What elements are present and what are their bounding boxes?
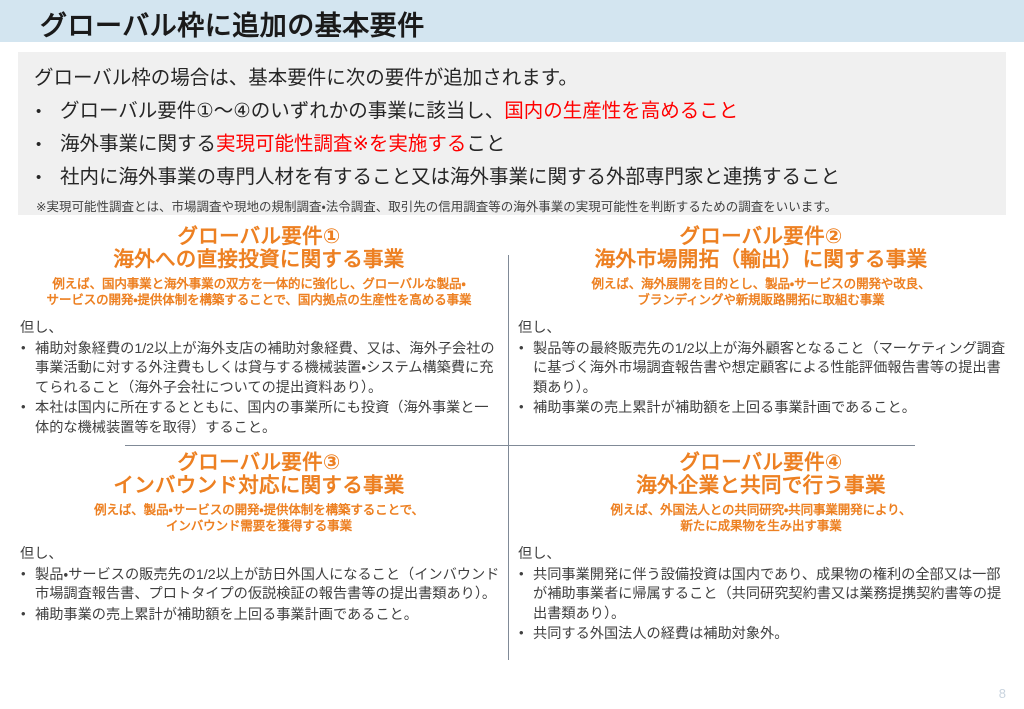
quadrant-2-condition-2: 補助事業の売上累計が補助額を上回る事業計画であること。: [516, 399, 1006, 419]
quadrant-global-requirement-1: グローバル要件① 海外への直接投資に関する事業 例えば、国内事業と海外事業の双方…: [18, 226, 500, 444]
quadrant-3-title-line2: インバウンド対応に関する事業: [18, 475, 500, 498]
quadrant-3-example-line1: 例えば、製品・サービスの開発・提供体制を構築することで、: [18, 502, 500, 519]
quadrant-4-title: グローバル要件④ 海外企業と共同で行う事業: [516, 452, 1006, 498]
quadrant-global-requirement-2: グローバル要件② 海外市場開拓（輸出）に関する事業 例えば、海外展開を目的とし、…: [516, 226, 1006, 444]
intro-footnote: ※実現可能性調査とは、市場調査や現地の規制調査・法令調査、取引先の信用調査等の海…: [36, 196, 837, 215]
quadrant-1-title: グローバル要件① 海外への直接投資に関する事業: [18, 226, 500, 272]
intro-bullet-2-black-before: 海外事業に関する: [60, 133, 216, 155]
quadrant-2-example-line1: 例えば、海外展開を目的とし、製品・サービスの開発や改良、: [516, 276, 1006, 293]
quadrant-3-condition-2: 補助事業の売上累計が補助額を上回る事業計画であること。: [18, 606, 500, 626]
quadrant-3-title: グローバル要件③ インバウンド対応に関する事業: [18, 452, 500, 498]
quadrant-4-condition-2: 共同する外国法人の経費は補助対象外。: [516, 625, 1006, 645]
intro-bullet-2-black-after: こと: [466, 133, 505, 155]
quadrant-1-condition-2: 本社は国内に所在するとともに、国内の事業所にも投資（海外事業と一体的な機械装置等…: [18, 399, 500, 438]
intro-bullet-3-black-before: 社内に海外事業の専門人材を有すること又は海外事業に関する外部専門家と連携すること: [60, 166, 840, 188]
vertical-divider: [508, 255, 509, 660]
quadrant-4-title-line1: グローバル要件④: [679, 451, 842, 474]
bullet-marker-icon: •: [36, 103, 60, 120]
quadrant-4-condition-1: 共同事業開発に伴う設備投資は国内であり、成果物の権利の全部又は一部が補助事業者に…: [516, 566, 1006, 625]
quadrant-3-example: 例えば、製品・サービスの開発・提供体制を構築することで、 インバウンド需要を獲得…: [18, 502, 500, 535]
quadrant-2-body: 但し、 製品等の最終販売先の1/2以上が海外顧客となること（マーケティング調査に…: [516, 319, 1006, 419]
quadrant-1-however: 但し、: [20, 319, 500, 339]
quadrant-2-title-line1: グローバル要件②: [679, 225, 842, 248]
intro-bullet-1: •グローバル要件①〜④のいずれかの事業に該当し、国内の生産性を高めること: [36, 94, 738, 123]
quadrant-4-example-line2: 新たに成果物を生み出す事業: [516, 518, 1006, 535]
quadrant-1-title-line2: 海外への直接投資に関する事業: [18, 249, 500, 272]
quadrant-3-condition-1: 製品・サービスの販売先の1/2以上が訪日外国人になること（インバウンド市場調査報…: [18, 566, 500, 605]
quadrant-2-condition-1: 製品等の最終販売先の1/2以上が海外顧客となること（マーケティング調査に基づく海…: [516, 340, 1006, 399]
quadrant-1-example: 例えば、国内事業と海外事業の双方を一体的に強化し、グローバルな製品・ サービスの…: [18, 276, 500, 309]
quadrant-global-requirement-3: グローバル要件③ インバウンド対応に関する事業 例えば、製品・サービスの開発・提…: [18, 452, 500, 670]
horizontal-divider: [125, 445, 915, 446]
quadrant-2-title-line2: 海外市場開拓（輸出）に関する事業: [516, 249, 1006, 272]
quadrant-1-title-line1: グローバル要件①: [177, 225, 340, 248]
quadrant-1-example-line2: サービスの開発・提供体制を構築することで、国内拠点の生産性を高める事業: [18, 292, 500, 309]
quadrant-4-however: 但し、: [518, 545, 1006, 565]
quadrant-4-example: 例えば、外国法人との共同研究・共同事業開発により、 新たに成果物を生み出す事業: [516, 502, 1006, 535]
quadrant-2-title: グローバル要件② 海外市場開拓（輸出）に関する事業: [516, 226, 1006, 272]
page-title: グローバル枠に追加の基本要件: [40, 4, 425, 43]
quadrant-4-body: 但し、 共同事業開発に伴う設備投資は国内であり、成果物の権利の全部又は一部が補助…: [516, 545, 1006, 645]
quadrant-3-title-line1: グローバル要件③: [177, 451, 340, 474]
quadrant-1-example-line1: 例えば、国内事業と海外事業の双方を一体的に強化し、グローバルな製品・: [18, 276, 500, 293]
intro-bullet-1-highlight: 国内の生産性を高めること: [504, 100, 738, 122]
intro-bullet-2: •海外事業に関する実現可能性調査※を実施すること: [36, 127, 505, 156]
quadrant-4-title-line2: 海外企業と共同で行う事業: [516, 475, 1006, 498]
quadrant-2-example: 例えば、海外展開を目的とし、製品・サービスの開発や改良、 ブランディングや新規販…: [516, 276, 1006, 309]
quadrant-3-body: 但し、 製品・サービスの販売先の1/2以上が訪日外国人になること（インバウンド市…: [18, 545, 500, 625]
quadrant-1-condition-1: 補助対象経費の1/2以上が海外支店の補助対象経費、又は、海外子会社の事業活動に対…: [18, 340, 500, 399]
bullet-marker-icon: •: [36, 136, 60, 153]
intro-panel: グローバル枠の場合は、基本要件に次の要件が追加されます。 •グローバル要件①〜④…: [18, 52, 1006, 215]
quadrant-2-example-line2: ブランディングや新規販路開拓に取組む事業: [516, 292, 1006, 309]
quadrant-2-however: 但し、: [518, 319, 1006, 339]
intro-bullet-2-highlight: 実現可能性調査※を実施する: [216, 133, 466, 155]
intro-bullet-1-black-before: グローバル要件①〜④のいずれかの事業に該当し、: [60, 100, 504, 122]
quadrant-global-requirement-4: グローバル要件④ 海外企業と共同で行う事業 例えば、外国法人との共同研究・共同事…: [516, 452, 1006, 670]
intro-lead-text: グローバル枠の場合は、基本要件に次の要件が追加されます。: [34, 61, 578, 90]
quadrant-1-body: 但し、 補助対象経費の1/2以上が海外支店の補助対象経費、又は、海外子会社の事業…: [18, 319, 500, 439]
quadrant-4-example-line1: 例えば、外国法人との共同研究・共同事業開発により、: [516, 502, 1006, 519]
quadrant-3-however: 但し、: [20, 545, 500, 565]
quadrant-3-example-line2: インバウンド需要を獲得する事業: [18, 518, 500, 535]
page-number: 8: [999, 686, 1006, 701]
bullet-marker-icon: •: [36, 169, 60, 186]
intro-bullet-3: •社内に海外事業の専門人材を有すること又は海外事業に関する外部専門家と連携するこ…: [36, 160, 840, 189]
